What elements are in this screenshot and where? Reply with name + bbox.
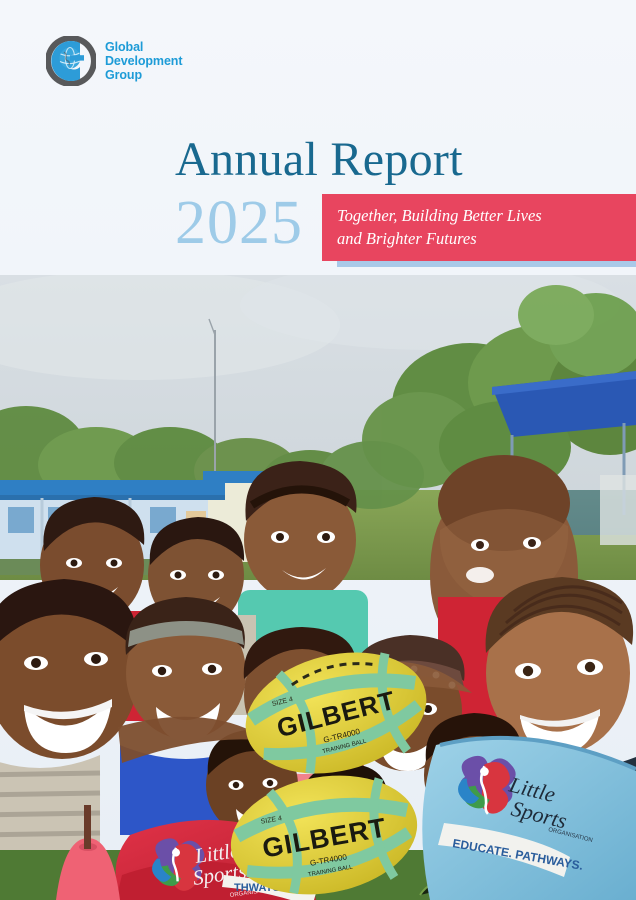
report-cover-page: Global Development Group Annual Report 2… — [0, 0, 636, 900]
organization-logo: Global Development Group — [46, 36, 182, 86]
tagline-text: Together, Building Better Lives and Brig… — [322, 205, 542, 250]
organization-logo-text: Global Development Group — [105, 40, 182, 82]
tagline-banner: Together, Building Better Lives and Brig… — [322, 194, 636, 261]
tagline-underline-rule — [337, 261, 636, 267]
logo-line-3: Group — [105, 68, 182, 82]
cover-photograph: Little Sports ORGANISATION EDUCATE. PATH… — [0, 275, 636, 900]
globe-g-logo-icon — [46, 36, 96, 86]
page-title: Annual Report — [175, 136, 463, 184]
logo-line-1: Global — [105, 40, 182, 54]
logo-line-2: Development — [105, 54, 182, 68]
